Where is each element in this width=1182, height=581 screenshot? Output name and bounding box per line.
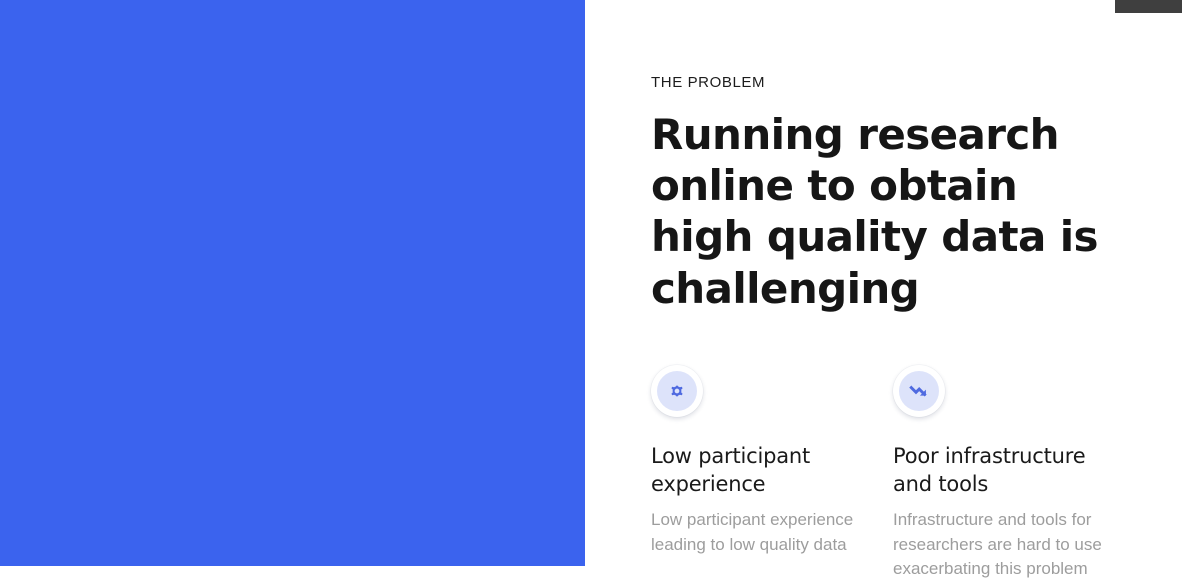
content-inner: THE PROBLEM Running research online to o… [651, 0, 1151, 581]
icon-badge-inner [899, 371, 939, 411]
icon-badge [651, 365, 703, 417]
content-panel: THE PROBLEM Running research online to o… [585, 0, 1182, 566]
trending-down-icon [907, 379, 931, 403]
feature-card-body: Low participant experience leading to lo… [651, 508, 881, 556]
feature-card-list: Low participant experience Low participa… [651, 365, 1151, 581]
icon-badge-inner [657, 371, 697, 411]
image-placeholder [0, 0, 585, 566]
feature-card-poor-infrastructure-and-tools: Poor infrastructure and tools Infrastruc… [893, 365, 1135, 581]
slide-root: THE PROBLEM Running research online to o… [0, 0, 1182, 566]
icon-badge [893, 365, 945, 417]
page-title: Running research online to obtain high q… [651, 109, 1131, 314]
feature-card-low-participant-experience: Low participant experience Low participa… [651, 365, 893, 581]
feature-card-body: Infrastructure and tools for researchers… [893, 508, 1123, 580]
feature-card-title: Low participant experience [651, 443, 881, 498]
feature-card-title: Poor infrastructure and tools [893, 443, 1123, 498]
section-eyebrow-label: THE PROBLEM [651, 74, 1151, 92]
gear-icon [666, 380, 688, 402]
